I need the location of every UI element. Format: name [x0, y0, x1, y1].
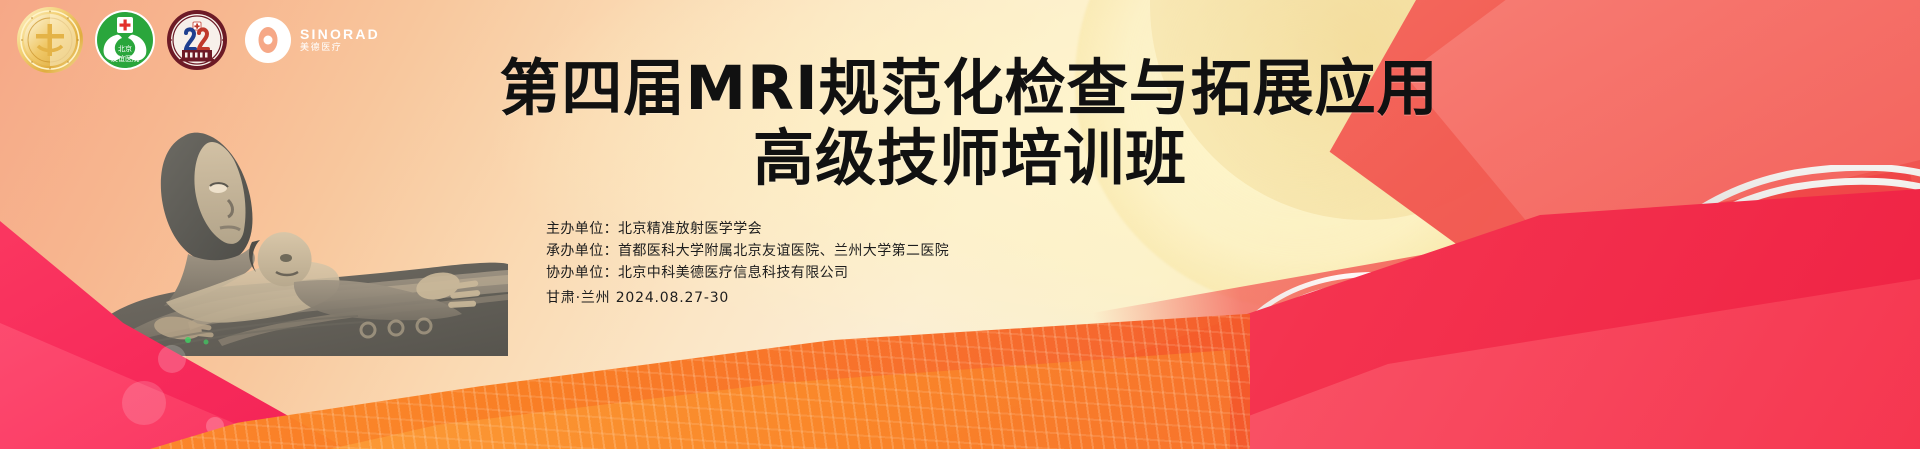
organizer-info-block: 主办单位：北京精准放射医学学会 承办单位：首都医科大学附属北京友谊医院、兰州大学…: [546, 218, 949, 309]
sinorad-logo: SINORAD 美德医疗: [242, 14, 380, 66]
conference-banner: 北京 友谊医院: [0, 0, 1920, 449]
organizer-line-coorganizer: 协办单位：北京中科美德医疗信息科技有限公司: [546, 262, 949, 284]
sinorad-wordmark: SINORAD 美德医疗: [300, 27, 380, 53]
logo-text-top: 北京: [118, 44, 132, 53]
sinorad-name: SINORAD: [300, 27, 380, 41]
organizer-line-host: 主办单位：北京精准放射医学学会: [546, 218, 949, 240]
sinorad-subtitle: 美德医疗: [300, 44, 380, 53]
beijing-friendship-hospital-logo: 北京 友谊医院: [94, 9, 156, 71]
organizer-logo-row: 北京 友谊医院: [16, 6, 380, 74]
decorative-bubble: [158, 345, 186, 373]
sinorad-mark-icon: [242, 14, 294, 66]
logo-text-bottom: 友谊医院: [111, 54, 139, 63]
event-date-location: 甘肃·兰州 2024.08.27-30: [546, 287, 949, 309]
decorative-bubble: [122, 381, 166, 425]
organizer-line-undertaker: 承办单位：首都医科大学附属北京友谊医院、兰州大学第二医院: [546, 240, 949, 262]
lanzhou-university-second-hospital-logo: [166, 9, 228, 71]
beijing-precision-radiology-society-logo: [16, 6, 84, 74]
